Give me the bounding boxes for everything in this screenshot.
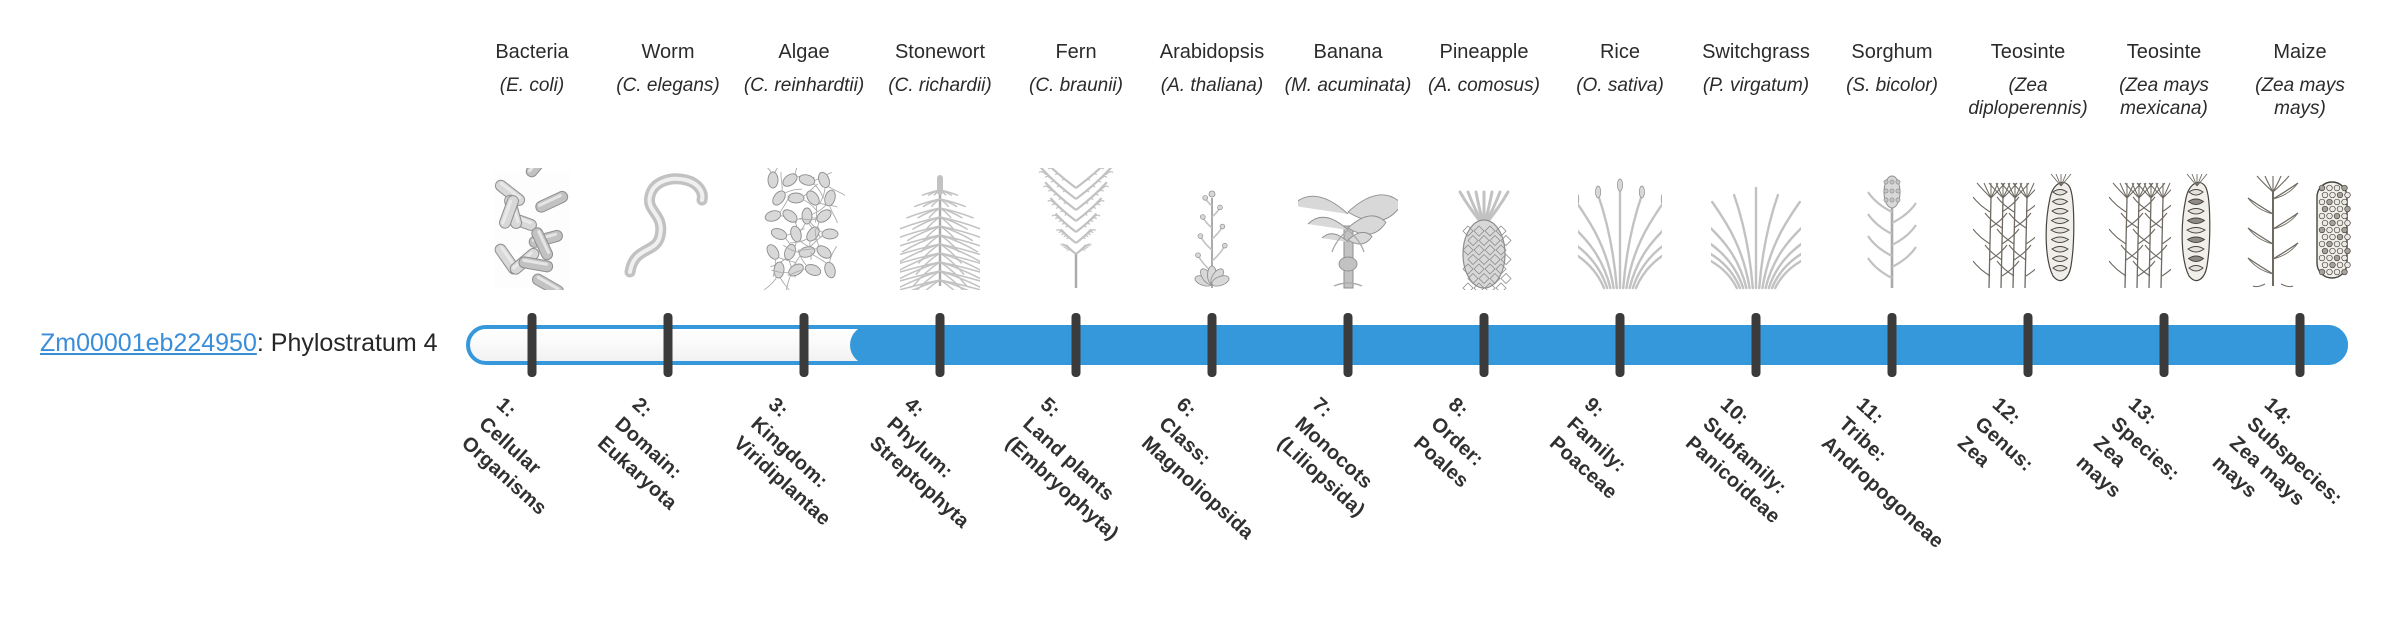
- species-column-fern-4: Fern(C. braunii): [1008, 40, 1144, 120]
- species-common-name: Teosinte: [2096, 40, 2232, 64]
- species-latin-name: (C. braunii): [1008, 74, 1144, 120]
- phylostratum-tick-3[interactable]: [800, 313, 809, 377]
- phylostratum-tick-13[interactable]: [2160, 313, 2169, 377]
- phylostratum-tick-9[interactable]: [1616, 313, 1625, 377]
- phylostratum-value: Phylostratum 4: [271, 329, 438, 357]
- species-latin-name: (S. bicolor): [1824, 74, 1960, 120]
- species-column-switchgrass-9: Switchgrass(P. virgatum): [1688, 40, 1824, 120]
- species-latin-name: (C. reinhardtii): [736, 74, 872, 120]
- species-latin-name: (M. acuminata): [1280, 74, 1416, 120]
- species-column-bacteria-0: Bacteria(E. coli): [464, 40, 600, 120]
- species-latin-name: (C. elegans): [600, 74, 736, 120]
- species-common-name: Fern: [1008, 40, 1144, 64]
- species-common-name: Worm: [600, 40, 736, 64]
- species-common-name: Banana: [1280, 40, 1416, 64]
- phylostratum-tick-10[interactable]: [1752, 313, 1761, 377]
- phylostratum-tick-8[interactable]: [1480, 313, 1489, 377]
- gene-id-link[interactable]: Zm00001eb224950: [40, 329, 257, 357]
- species-latin-name: (E. coli): [464, 74, 600, 120]
- species-latin-name: (C. richardii): [872, 74, 1008, 120]
- phylostratum-tick-6[interactable]: [1208, 313, 1217, 377]
- species-column-rice-8: Rice(O. sativa): [1552, 40, 1688, 120]
- switchgrass-icon: [1688, 168, 1824, 290]
- teosinte-mexicana-icon: [2096, 168, 2232, 290]
- species-latin-name: (Zea mays mexicana): [2096, 74, 2232, 120]
- species-latin-name: (P. virgatum): [1688, 74, 1824, 120]
- phylostratum-tick-11[interactable]: [1888, 313, 1897, 377]
- species-common-name: Maize: [2232, 40, 2368, 64]
- species-column-teosinte-11: Teosinte(Zea diploperennis): [1960, 40, 2096, 120]
- species-latin-name: (Zea diploperennis): [1960, 74, 2096, 120]
- arabidopsis-icon: [1144, 168, 1280, 290]
- species-common-name: Rice: [1552, 40, 1688, 64]
- species-common-name: Algae: [736, 40, 872, 64]
- sorghum-icon: [1824, 168, 1960, 290]
- species-common-name: Pineapple: [1416, 40, 1552, 64]
- species-latin-name: (O. sativa): [1552, 74, 1688, 120]
- maize-icon: [2232, 168, 2368, 290]
- phylostratum-progress-bar[interactable]: [466, 325, 2348, 365]
- phylostratum-tick-14[interactable]: [2296, 313, 2305, 377]
- species-common-name: Stonewort: [872, 40, 1008, 64]
- species-common-name: Teosinte: [1960, 40, 2096, 64]
- banana-icon: [1280, 168, 1416, 290]
- species-common-name: Sorghum: [1824, 40, 1960, 64]
- phylostratum-figure: Zm00001eb224950: Phylostratum 4 Bacteria…: [0, 0, 2400, 580]
- species-common-name: Switchgrass: [1688, 40, 1824, 64]
- species-column-algae-2: Algae(C. reinhardtii): [736, 40, 872, 120]
- phylostratum-tick-5[interactable]: [1072, 313, 1081, 377]
- gene-phylostratum-label: Zm00001eb224950: Phylostratum 4: [40, 328, 438, 358]
- species-column-sorghum-10: Sorghum(S. bicolor): [1824, 40, 1960, 120]
- algae-icon: [736, 168, 872, 290]
- stonewort-icon: [872, 168, 1008, 290]
- species-column-pineapple-7: Pineapple(A. comosus): [1416, 40, 1552, 120]
- species-column-stonewort-3: Stonewort(C. richardii): [872, 40, 1008, 120]
- species-column-teosinte-12: Teosinte(Zea mays mexicana): [2096, 40, 2232, 120]
- species-latin-name: (Zea mays mays): [2232, 74, 2368, 120]
- phylostratum-tick-12[interactable]: [2024, 313, 2033, 377]
- worm-icon: [600, 168, 736, 290]
- species-column-maize-13: Maize(Zea mays mays): [2232, 40, 2368, 120]
- phylostratum-tick-7[interactable]: [1344, 313, 1353, 377]
- bacteria-icon: [464, 168, 600, 290]
- pineapple-icon: [1416, 168, 1552, 290]
- species-latin-name: (A. comosus): [1416, 74, 1552, 120]
- species-latin-name: (A. thaliana): [1144, 74, 1280, 120]
- species-common-name: Arabidopsis: [1144, 40, 1280, 64]
- species-common-name: Bacteria: [464, 40, 600, 64]
- phylostratum-tick-4[interactable]: [936, 313, 945, 377]
- species-column-worm-1: Worm(C. elegans): [600, 40, 736, 120]
- gene-label-separator: :: [257, 329, 271, 357]
- teosinte-diploperennis-icon: [1960, 168, 2096, 290]
- species-column-arabidopsis-5: Arabidopsis(A. thaliana): [1144, 40, 1280, 120]
- phylostratum-tick-1[interactable]: [528, 313, 537, 377]
- species-column-banana-6: Banana(M. acuminata): [1280, 40, 1416, 120]
- phylostratum-tick-2[interactable]: [664, 313, 673, 377]
- fern-icon: [1008, 168, 1144, 290]
- rice-icon: [1552, 168, 1688, 290]
